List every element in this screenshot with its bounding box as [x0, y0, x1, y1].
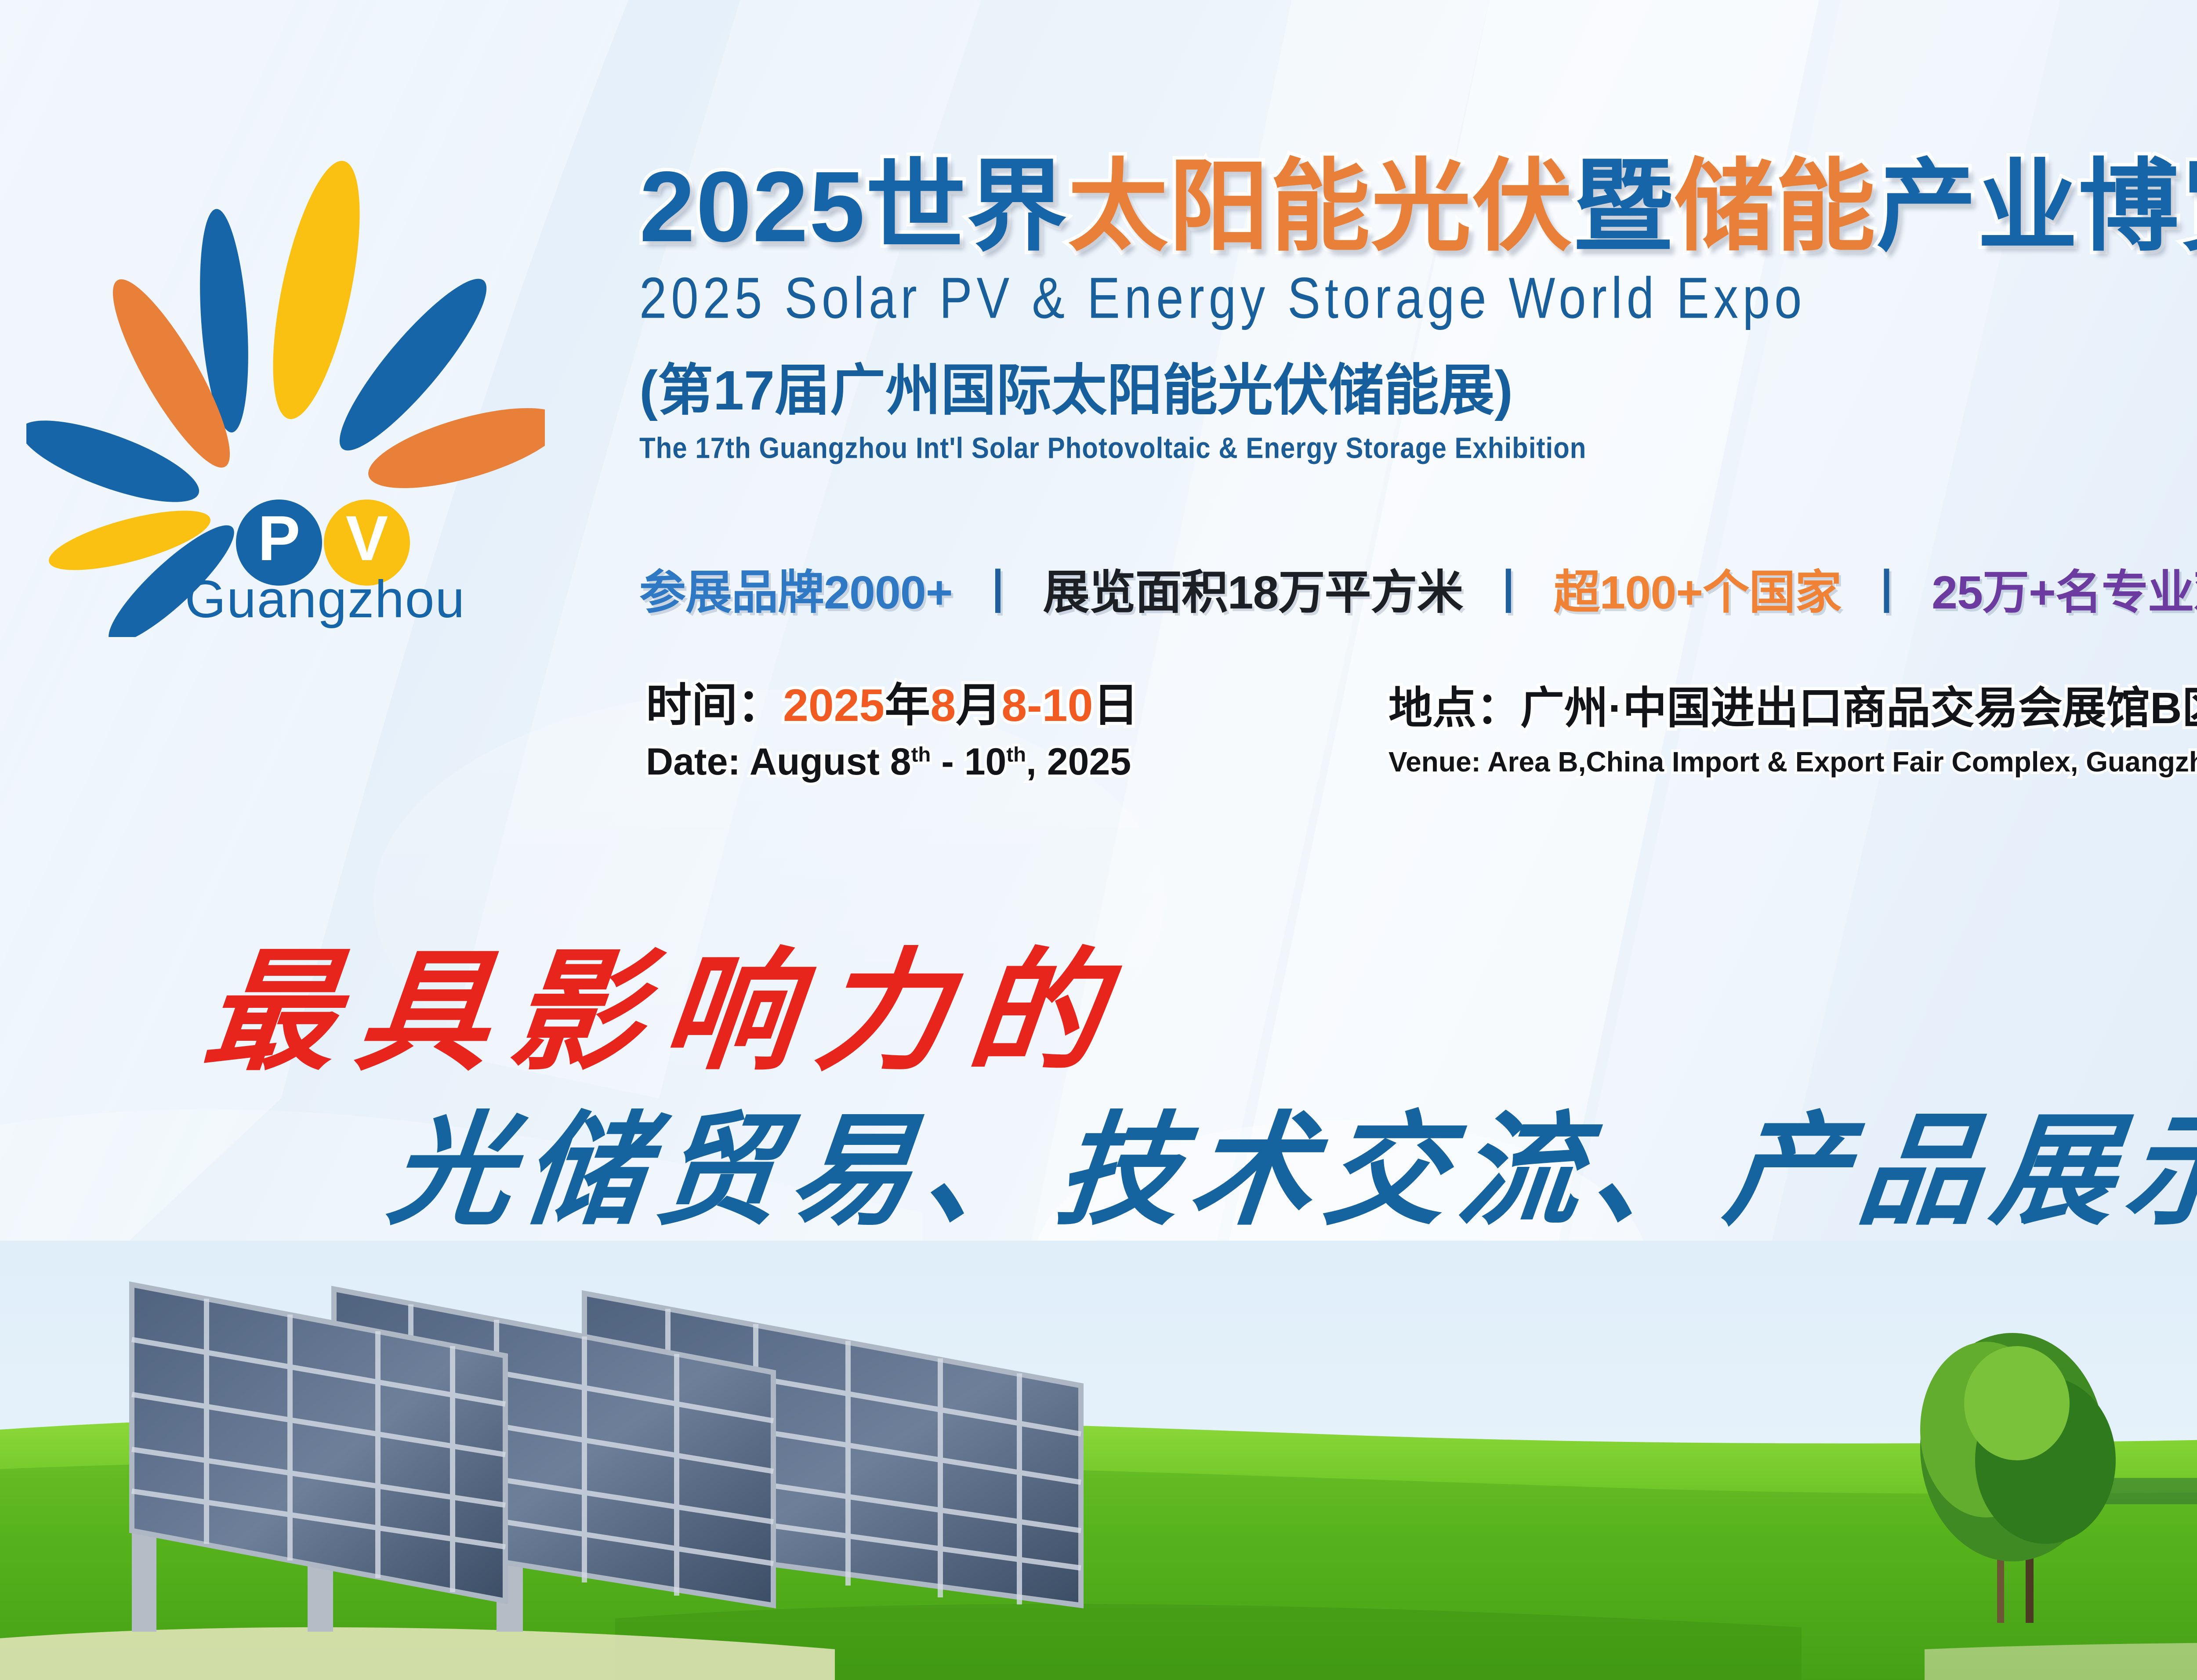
logo-p-letter: P [258, 503, 301, 574]
venue-cn: 地点：广州·中国进出口商品交易会展馆B区 [1389, 672, 2197, 736]
stat-area: 展览面积18万平方米 [1043, 554, 1463, 622]
main-title-en: 2025 Solar PV & Energy Storage World Exp… [639, 264, 2197, 331]
stat-brands: 参展品牌2000+ [639, 554, 953, 622]
date-cn-month-unit: 月 [956, 680, 1001, 731]
date-en-suffix: , 2025 [1026, 741, 1131, 783]
date-cn-label: 时间： [646, 680, 783, 731]
date-cn-year: 2025 [783, 680, 885, 731]
title-seg-2: 太阳能光伏 [1068, 151, 1573, 263]
date-en: Date: August 8th - 10th, 2025 [646, 740, 1138, 784]
date-en-sup-1: th [911, 743, 931, 766]
title-seg-4: 储能 [1674, 151, 1876, 263]
logo-city-label: Guangzhou [185, 570, 466, 629]
date-cn-days: 8-10 [1001, 680, 1093, 731]
stats-strip: 参展品牌2000+ 丨 展览面积18万平方米 丨 超100+个国家 丨 25万+… [639, 554, 2197, 622]
logo-v-letter: V [346, 503, 388, 574]
slogan-line-1: 最具影响力的 [196, 905, 1134, 1096]
date-cn-month: 8 [930, 680, 956, 731]
date-cn-day-unit: 日 [1093, 680, 1138, 731]
title-seg-3: 暨 [1573, 151, 1674, 263]
logo-sunburst-icon: P V Guangzhou [26, 145, 545, 637]
main-title-cn: 2025世界太阳能光伏暨储能产业博览会 [639, 156, 2197, 258]
poster-canvas: P V Guangzhou 2025世界太阳能光伏暨储能产业博览会 2025 S… [0, 0, 2197, 1680]
stat-separator-2: 丨 [1476, 554, 1541, 622]
stat-visitors: 25万+名专业观众 [1932, 554, 2197, 622]
scene-illustration [0, 1241, 2197, 1680]
title-seg-1: 2025世界 [639, 151, 1068, 263]
date-en-prefix: Date: August 8 [646, 741, 911, 783]
venue-block: 地点：广州·中国进出口商品交易会展馆B区 Venue: Area B,China… [1389, 672, 2197, 778]
bottom-scene [0, 1241, 2197, 1680]
date-block: 时间：2025年8月8-10日 Date: August 8th - 10th,… [646, 668, 1138, 784]
pv-guangzhou-logo: P V Guangzhou [26, 145, 545, 637]
date-cn-year-unit: 年 [885, 680, 930, 731]
title-block: 2025世界太阳能光伏暨储能产业博览会 2025 Solar PV & Ener… [639, 156, 2197, 461]
venue-en: Venue: Area B,China Import & Export Fair… [1389, 746, 2197, 778]
date-en-mid: - 10 [931, 741, 1006, 783]
stat-separator-3: 丨 [1854, 554, 1919, 622]
date-cn: 时间：2025年8月8-10日 [646, 668, 1138, 734]
stat-separator-1: 丨 [965, 554, 1030, 622]
subtitle-en: The 17th Guangzhou Int'l Solar Photovolt… [639, 431, 2197, 465]
stat-countries: 超100+个国家 [1553, 554, 1841, 622]
title-seg-5: 产业博览会 [1876, 151, 2197, 263]
date-en-sup-2: th [1006, 743, 1026, 766]
slogan-line-2: 光储贸易、技术交流、产品展示平台！ [382, 1072, 2197, 1249]
subtitle-cn: (第17届广州国际太阳能光伏储能展) [639, 346, 2197, 426]
